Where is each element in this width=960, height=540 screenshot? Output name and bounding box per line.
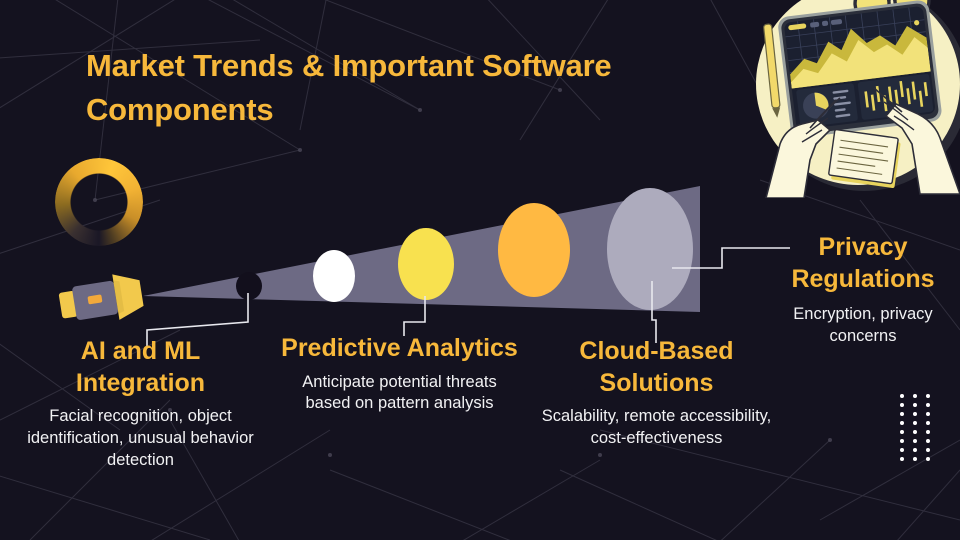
dot-grid-pattern xyxy=(898,392,942,468)
item-body: Scalability, remote accessibility, cost-… xyxy=(540,406,773,450)
item-heading: Privacy Regulations xyxy=(768,232,958,295)
item-predictive-analytics: Predictive Analytics Anticipate potentia… xyxy=(281,333,518,415)
item-body: Anticipate potential threats based on pa… xyxy=(281,372,518,416)
item-ai-ml-integration: AI and ML Integration Facial recognition… xyxy=(14,336,267,472)
item-body: Encryption, privacy concerns xyxy=(768,304,958,348)
item-heading: Predictive Analytics xyxy=(281,333,518,365)
item-heading: Cloud-Based Solutions xyxy=(540,336,773,399)
item-heading: AI and ML Integration xyxy=(14,336,267,399)
infographic-slide: Market Trends & Important Software Compo… xyxy=(0,0,960,540)
item-privacy-regulations: Privacy Regulations Encryption, privacy … xyxy=(768,232,958,348)
tablet-analytics-illustration xyxy=(744,0,960,198)
connector-cloud xyxy=(652,281,656,343)
item-cloud-based-solutions: Cloud-Based Solutions Scalability, remot… xyxy=(540,336,773,450)
connector-predictive xyxy=(404,296,425,336)
item-body: Facial recognition, object identificatio… xyxy=(14,406,267,472)
